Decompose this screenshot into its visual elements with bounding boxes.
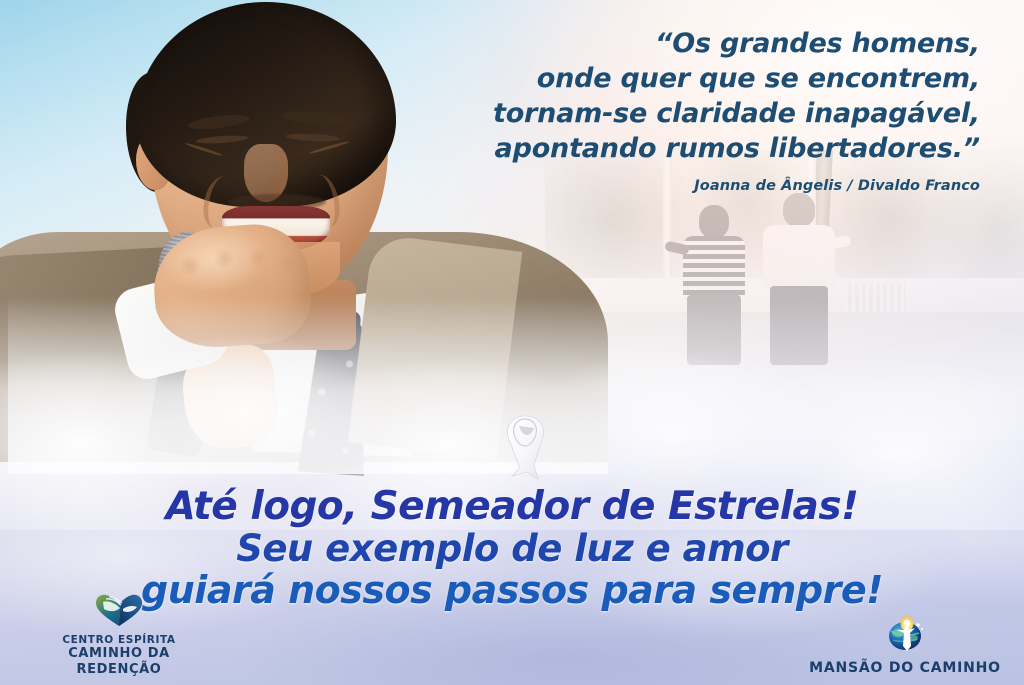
scene-figure-head bbox=[699, 205, 729, 238]
mourning-ribbon-icon bbox=[494, 410, 556, 482]
knuckles bbox=[166, 240, 298, 292]
headline-line-2: Seu exemplo de luz e amor bbox=[0, 528, 1024, 569]
scene-figure-legs bbox=[770, 286, 828, 365]
memorial-poster: “Os grandes homens, onde quer que se enc… bbox=[0, 0, 1024, 685]
logo-right-text: MANSÃO DO CAMINHO bbox=[809, 660, 1001, 677]
scene-figure-torso bbox=[763, 225, 835, 289]
scene-figure-white-shirt bbox=[763, 193, 835, 365]
scene-figure-legs bbox=[687, 295, 741, 365]
scene-figure-head bbox=[783, 193, 815, 227]
scene-figure-striped-shirt bbox=[683, 205, 745, 365]
quote-line-2: onde quer que se encontrem, bbox=[420, 61, 980, 96]
heart-hands-icon bbox=[93, 593, 145, 631]
quote-line-4: apontando rumos libertadores.” bbox=[420, 131, 980, 166]
quote-line-1: “Os grandes homens, bbox=[420, 26, 980, 61]
scene-figure-torso bbox=[683, 236, 745, 298]
logo-centro-espirita[interactable]: CENTRO ESPÍRITA CAMINHO DA REDENÇÃO bbox=[24, 593, 214, 677]
logo-right-name: MANSÃO DO CAMINHO bbox=[809, 660, 1001, 677]
headline-line-1: Até logo, Semeador de Estrelas! bbox=[0, 486, 1024, 528]
quote-attribution: Joanna de Ângelis / Divaldo Franco bbox=[420, 178, 980, 194]
logo-left-line-2: CAMINHO DA REDENÇÃO bbox=[24, 646, 214, 677]
logo-mansao-do-caminho[interactable]: MANSÃO DO CAMINHO bbox=[800, 613, 1010, 677]
quote-line-3: tornam-se claridade inapagável, bbox=[420, 96, 980, 131]
logo-left-line-1: CENTRO ESPÍRITA bbox=[24, 634, 214, 646]
quote-block: “Os grandes homens, onde quer que se enc… bbox=[420, 26, 980, 194]
globe-figure-icon bbox=[881, 613, 929, 657]
logo-left-text: CENTRO ESPÍRITA CAMINHO DA REDENÇÃO bbox=[24, 634, 214, 677]
